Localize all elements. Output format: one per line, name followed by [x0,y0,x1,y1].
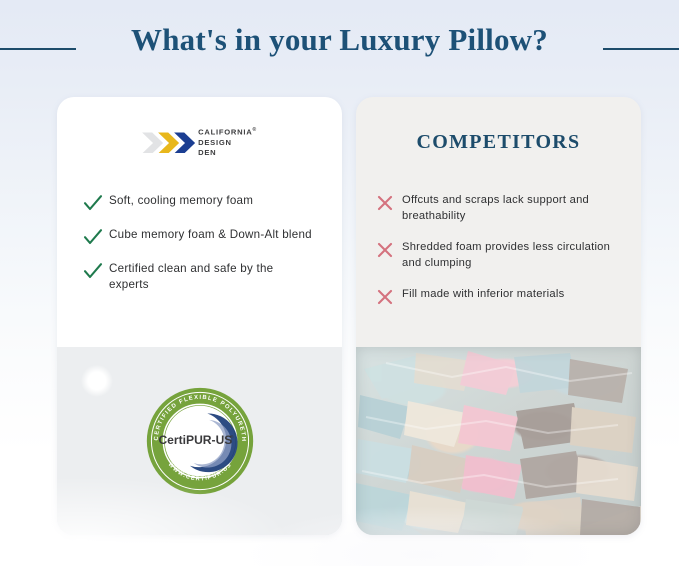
page-title: What's in your Luxury Pillow? [0,22,679,58]
list-item-label: Certified clean and safe by the experts [109,261,316,294]
infographic-canvas: What's in your Luxury Pillow? CALIFORNIA… [0,0,679,566]
header: What's in your Luxury Pillow? [0,0,679,92]
x-icon [376,193,402,212]
logo-wordmark: CALIFORNIA® DESIGN DEN [198,127,257,159]
logo-line-3: DEN [198,148,257,158]
check-icon [83,261,109,280]
shredded-scrap-foam-photo [356,347,641,535]
photo-inner-shadow [356,347,641,535]
list-item-label: Offcuts and scraps lack support and brea… [402,193,623,225]
california-design-den-logo: CALIFORNIA® DESIGN DEN [57,127,342,159]
list-item-label: Fill made with inferior materials [402,287,564,303]
check-icon [83,193,109,212]
x-icon [376,240,402,259]
competitors-card: COMPETITORS Offcuts and scraps lack supp… [356,97,641,535]
list-item-label: Soft, cooling memory foam [109,193,253,209]
badge-name: CertiPUR-US [158,433,232,447]
logo-line-1: CALIFORNIA® [198,127,257,138]
list-item: Shredded foam provides less circulation … [376,240,623,272]
benefits-list: Soft, cooling memory foam Cube memory fo… [57,193,342,309]
list-item: Offcuts and scraps lack support and brea… [376,193,623,225]
competitors-title: COMPETITORS [356,131,641,154]
white-foam-cubes-photo: CONTAINS CERTIFIED FLEXIBLE POLYURETHANE… [57,347,342,535]
logo-line-2: DESIGN [198,138,257,148]
list-item-label: Shredded foam provides less circulation … [402,240,623,272]
list-item-label: Cube memory foam & Down-Alt blend [109,227,312,243]
competitors-card-header: COMPETITORS [356,97,641,161]
check-icon [83,227,109,246]
brand-card-header: CALIFORNIA® DESIGN DEN [57,97,342,161]
list-item: Certified clean and safe by the experts [83,261,316,294]
list-item: Cube memory foam & Down-Alt blend [83,227,316,246]
chevron-gray-icon [142,132,163,153]
certipur-us-badge: CONTAINS CERTIFIED FLEXIBLE POLYURETHANE… [145,386,255,496]
list-item: Soft, cooling memory foam [83,193,316,212]
brand-card: CALIFORNIA® DESIGN DEN Soft, cooling mem… [57,97,342,535]
logo-chevrons [142,132,190,153]
x-icon [376,287,402,306]
drawbacks-list: Offcuts and scraps lack support and brea… [356,193,641,321]
list-item: Fill made with inferior materials [376,287,623,306]
